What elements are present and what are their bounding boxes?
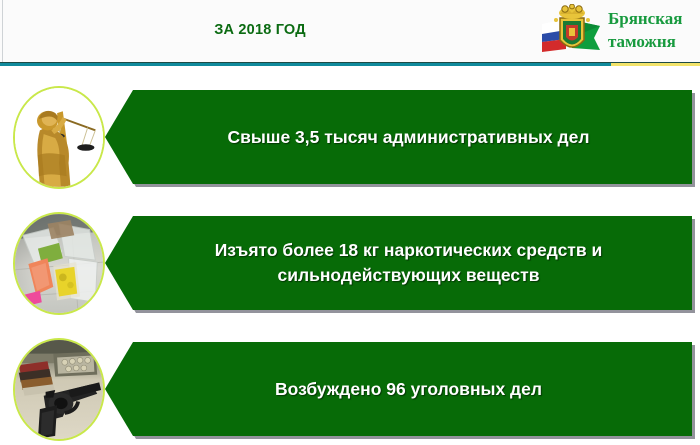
stat-banner-label: Возбуждено 96 уголовных дел xyxy=(241,377,556,402)
stat-banner: Возбуждено 96 уголовных дел xyxy=(105,342,692,436)
stat-icon-oval xyxy=(13,212,105,315)
stat-banner-label: Изъято более 18 кг наркотических средств… xyxy=(181,238,617,288)
header-divider-yellow xyxy=(611,63,700,66)
stat-row: Изъято более 18 кг наркотических средств… xyxy=(0,212,700,316)
stat-banner: Свыше 3,5 тысяч административных дел xyxy=(105,90,692,184)
russian-customs-coat-of-arms-icon xyxy=(536,4,604,58)
stat-icon-oval xyxy=(13,86,105,189)
stat-row: Свыше 3,5 тысяч административных дел xyxy=(0,86,700,190)
slide-canvas: ЗА 2018 ГОД xyxy=(0,0,700,445)
slide-header: ЗА 2018 ГОД xyxy=(0,0,700,62)
revolver-and-ammunition-photo-icon xyxy=(15,340,103,439)
brand-logo-line-2: таможня xyxy=(608,30,696,53)
stat-icon-oval xyxy=(13,338,105,441)
stat-banner: Изъято более 18 кг наркотических средств… xyxy=(105,216,692,310)
brand-logo-line-1: Брянская xyxy=(608,7,696,30)
stat-row: Возбуждено 96 уголовных дел xyxy=(0,338,700,442)
brand-logo: Брянская таможня xyxy=(520,2,696,60)
seized-drug-packets-photo-icon xyxy=(15,214,103,313)
stat-banner-label: Свыше 3,5 тысяч административных дел xyxy=(194,125,604,150)
scales-of-justice-statue-icon xyxy=(15,88,103,187)
page-title: ЗА 2018 ГОД xyxy=(0,22,520,38)
header-divider-teal xyxy=(0,63,611,66)
brand-logo-text: Брянская таможня xyxy=(608,7,696,53)
